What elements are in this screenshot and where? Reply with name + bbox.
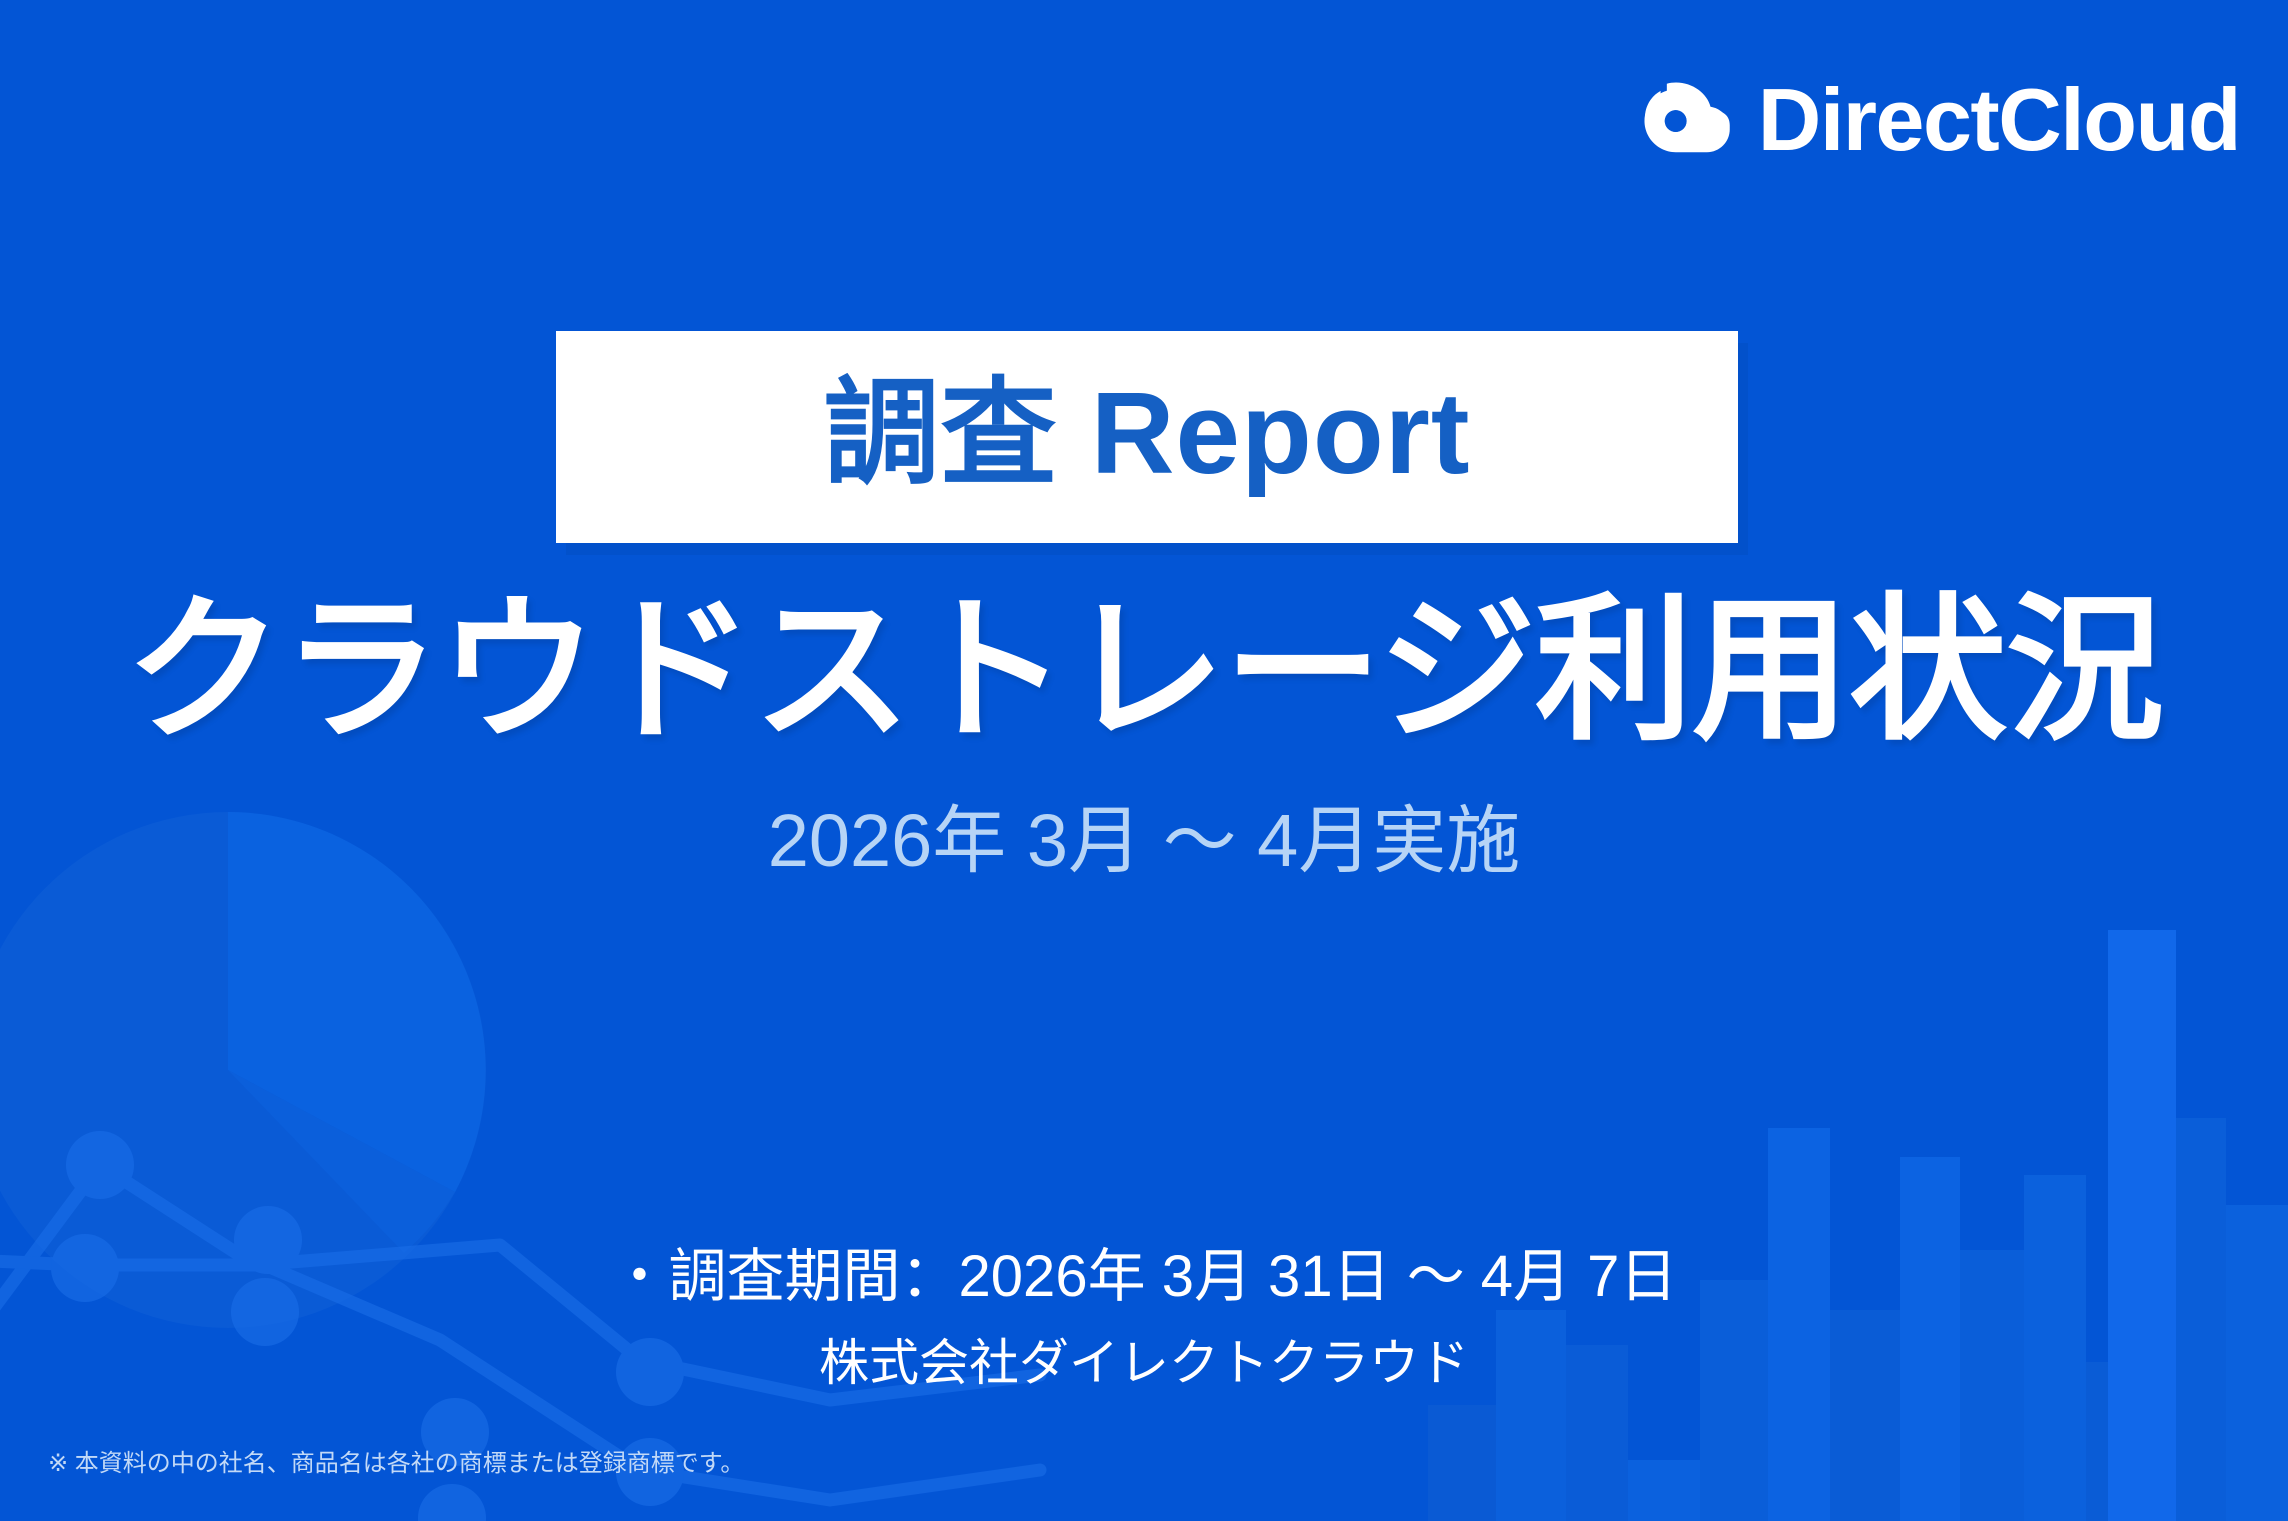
directcloud-logo: DirectCloud [1632,68,2240,172]
survey-period-text: ・調査期間：2026年 3月 31日 〜 4月 7日 [0,1244,2288,1311]
trademark-note: ※ 本資料の中の社名、商品名は各社の商標または登録商標です。 [48,1450,744,1479]
logo-wordmark: DirectCloud [1758,76,2240,164]
company-name-text: 株式会社ダイレクトクラウド [0,1335,2288,1393]
slide-root: DirectCloud 調査 Report クラウドストレージ利用状況 2026… [0,0,2288,1521]
banner-label: 調査 Report [824,375,1471,491]
bar-chart-decoration-icon [1428,930,2288,1521]
page-title: クラウドストレージ利用状況 [0,586,2288,757]
footer-info: ・調査期間：2026年 3月 31日 〜 4月 7日 株式会社ダイレクトクラウド [0,1244,2288,1392]
survey-window-subtitle: 2026年 3月 〜 4月実施 [0,800,2288,881]
report-banner: 調査 Report [556,331,1738,543]
directcloud-cloud-mark-icon [1632,68,1736,172]
